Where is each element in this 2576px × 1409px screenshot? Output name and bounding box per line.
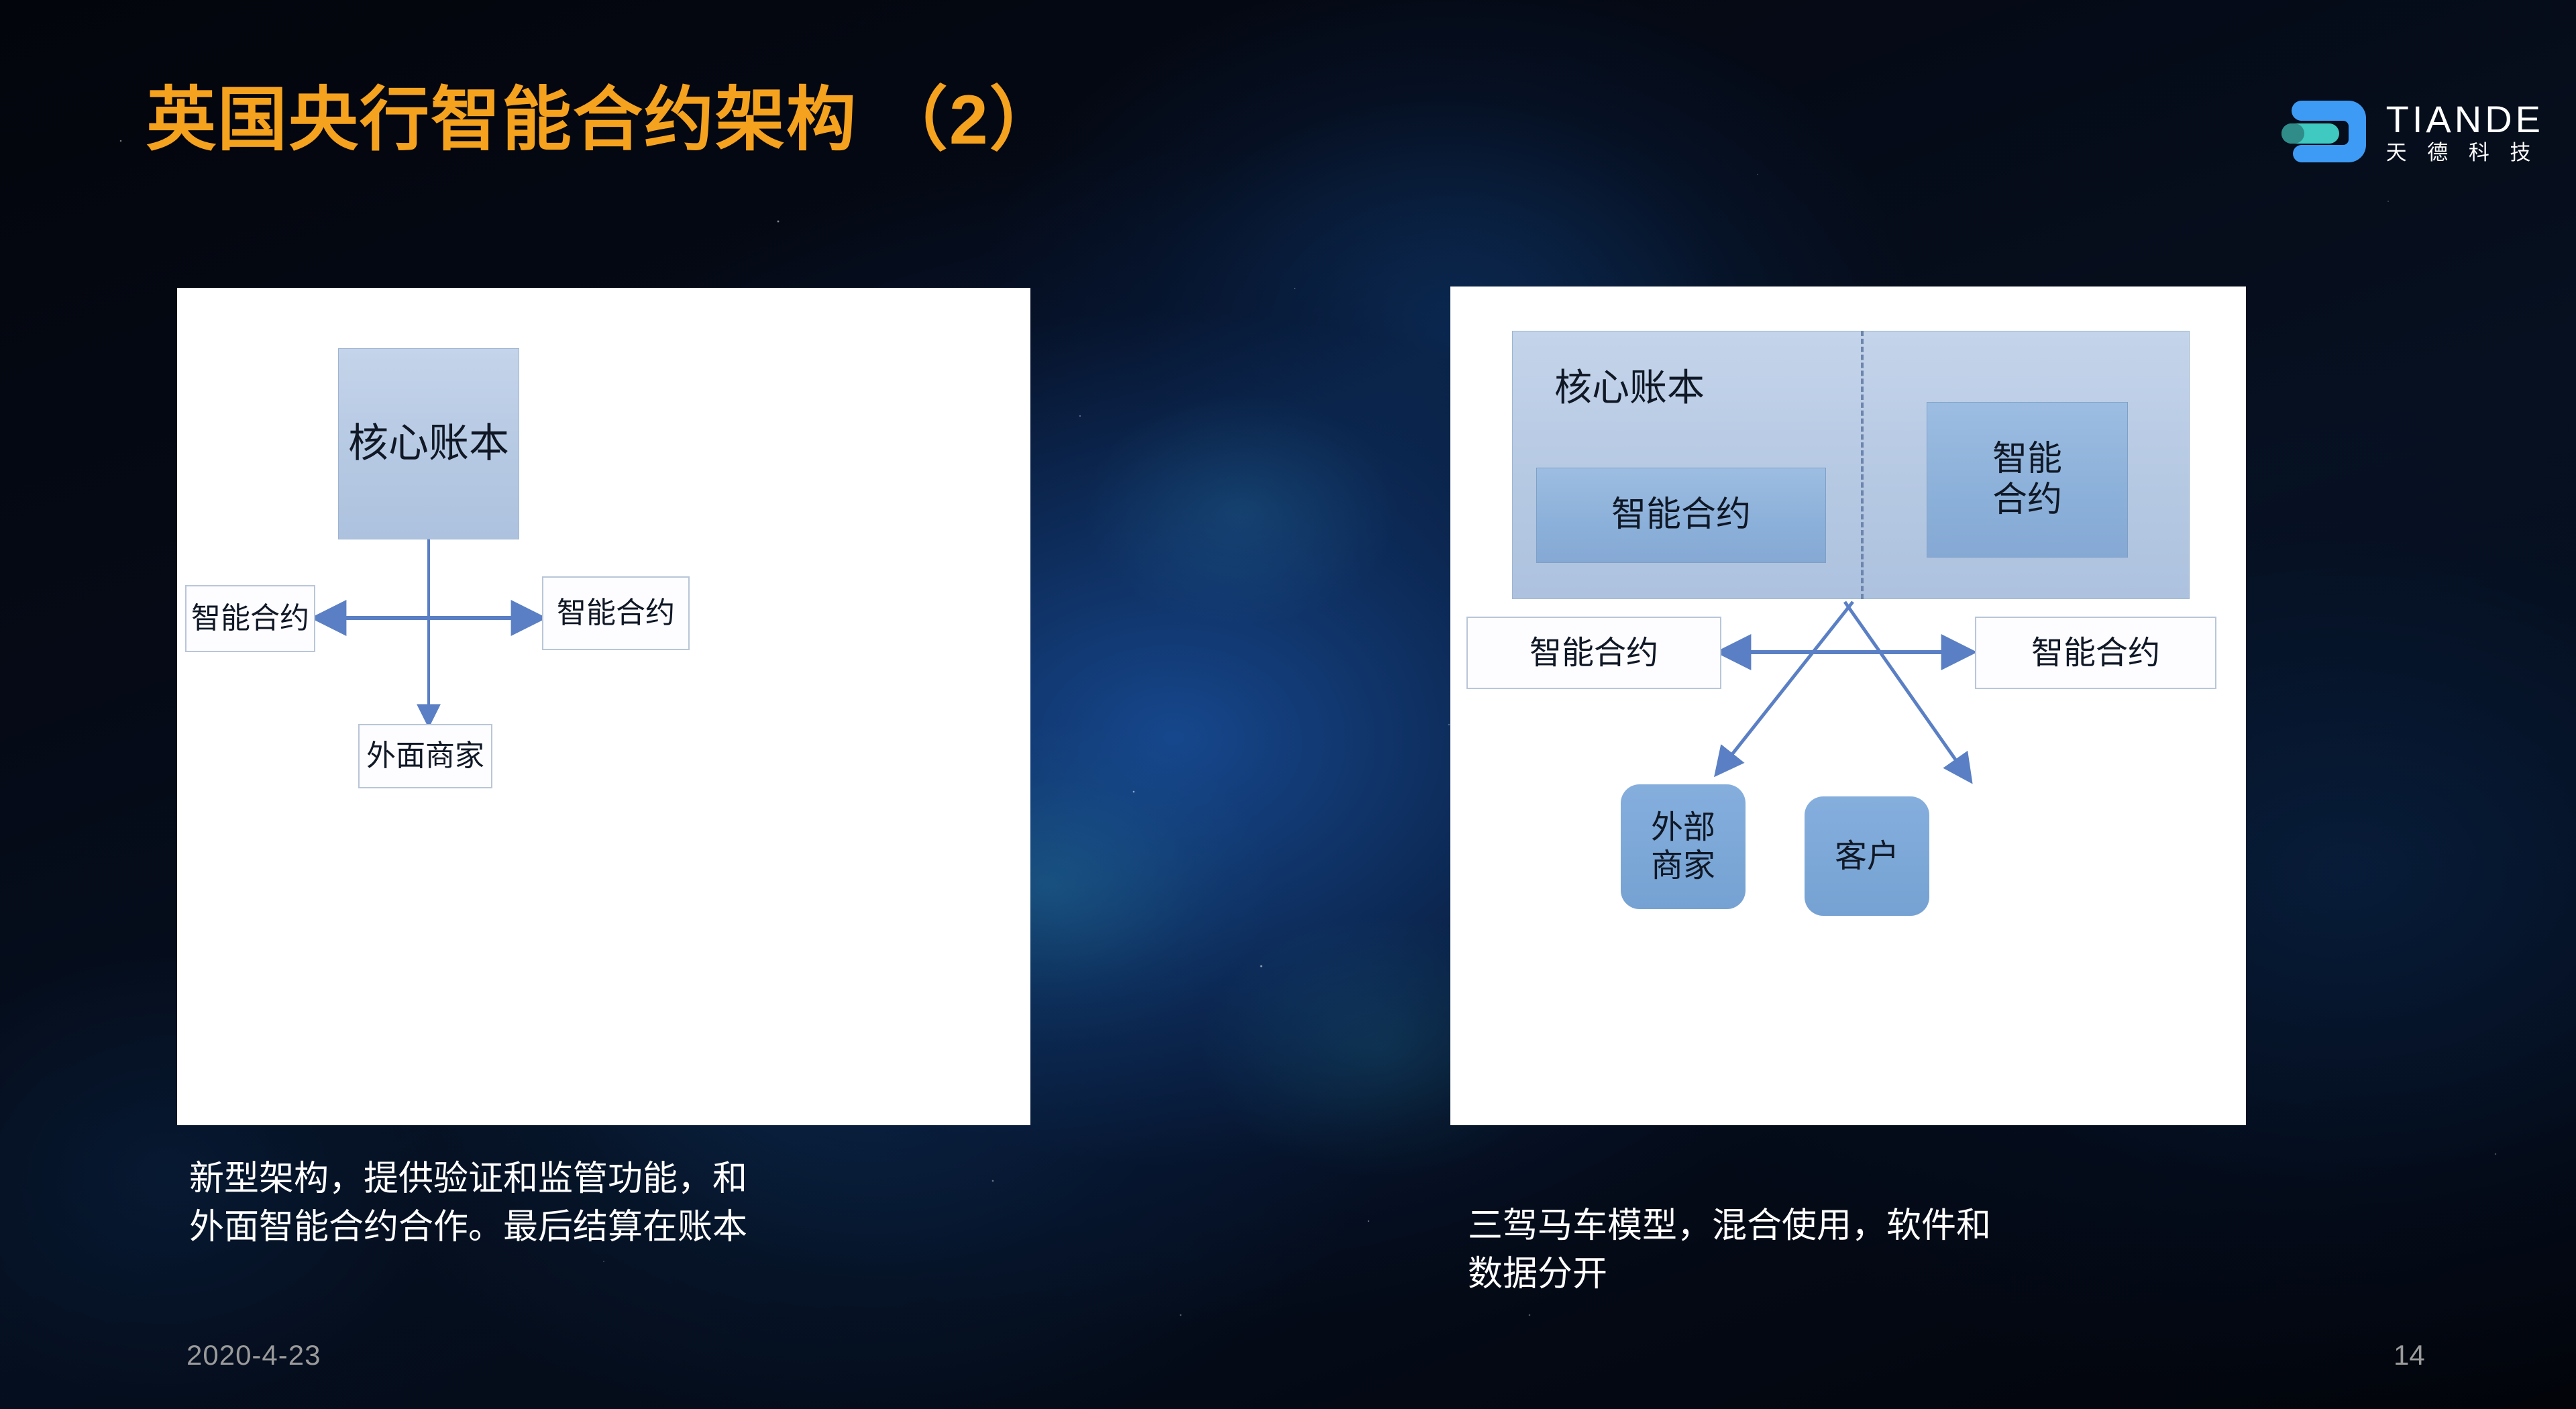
slide-title: 英国央行智能合约架构 （2） [146,82,1061,158]
right-smart-contract-outer-left-box: 智能合约 [1466,617,1721,689]
left-core-ledger-box: 核心账本 [338,348,519,539]
right-external-merchant-label: 外部 商家 [1621,784,1746,909]
left-smart-contract-right-label: 智能合约 [543,578,688,649]
right-smart-contract-inner-left-label: 智能合约 [1537,468,1825,562]
left-smart-contract-left-label: 智能合约 [186,586,314,651]
tiande-logo-mark-icon [2279,94,2371,169]
right-smart-contract-outer-left-label: 智能合约 [1468,618,1720,688]
left-external-merchant-label: 外面商家 [360,725,491,787]
footer-page-number: 14 [2394,1339,2425,1371]
presentation-slide: 英国央行智能合约架构 （2） TIANDE 天 德 科 技 核心账本 [0,0,2576,1409]
right-smart-contract-outer-right-box: 智能合约 [1975,617,2216,689]
left-smart-contract-right-box: 智能合约 [542,576,690,650]
left-diagram-panel: 核心账本 智能合约 智能合约 外面商家 [177,288,1030,1125]
right-diagram-panel: 核心账本 智能合约 智能 合约 [1450,286,2246,1125]
right-customer-box: 客户 [1805,796,1929,916]
logo-english-text: TIANDE [2386,101,2544,138]
tiande-logo: TIANDE 天 德 科 技 [2279,94,2544,169]
right-smart-contract-outer-right-label: 智能合约 [1976,618,2215,688]
logo-wordmark: TIANDE 天 德 科 技 [2386,101,2544,163]
right-customer-label: 客户 [1805,796,1929,916]
left-diagram-caption: 新型架构，提供验证和监管功能，和 外面智能合约合作。最后结算在账本 [189,1155,1061,1252]
right-core-ledger-divider [1861,331,1864,599]
right-smart-contract-inner-left-box: 智能合约 [1536,468,1826,563]
logo-chinese-text: 天 德 科 技 [2386,142,2544,163]
footer-date: 2020-4-23 [186,1339,321,1371]
left-core-ledger-label: 核心账本 [339,349,519,539]
left-smart-contract-left-box: 智能合约 [185,585,315,652]
right-smart-contract-inner-right-label: 智能 合约 [1927,403,2127,557]
right-smart-contract-inner-right-box: 智能 合约 [1927,402,2128,558]
left-diagram-arrows [177,288,1030,1125]
right-external-merchant-box: 外部 商家 [1621,784,1746,909]
left-external-merchant-box: 外面商家 [358,724,492,788]
right-diagram-caption: 三驾马车模型，混合使用，软件和 数据分开 [1468,1202,2306,1299]
